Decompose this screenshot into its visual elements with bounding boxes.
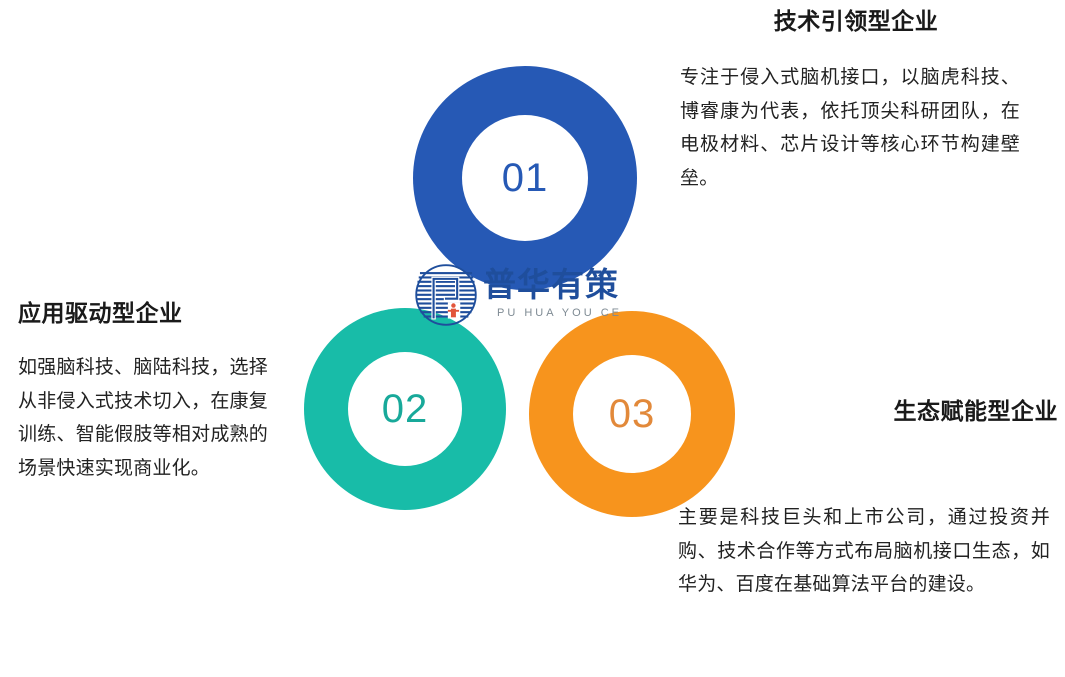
text-block-02: 应用驱动型企业 如强脑科技、脑陆科技，选择从非侵入式技术切入，在康复训练、智能假… [18,300,280,486]
infographic-canvas: 01 02 03 [0,0,1065,677]
ring-node-02-number: 02 [382,389,429,429]
text-block-02-title: 应用驱动型企业 [18,300,280,329]
text-block-03-body: 主要是科技巨头和上市公司，通过投资并购、技术合作等方式布局脑机接口生态，如华为、… [678,501,1050,602]
ring-node-01[interactable]: 01 [413,66,637,290]
text-block-01-body: 专注于侵入式脑机接口，以脑虎科技、博睿康为代表，依托顶尖科研团队，在电极材料、芯… [680,61,1020,196]
ring-node-03-hole: 03 [573,355,691,473]
text-block-03-title: 生态赋能型企业 [678,398,1058,427]
ring-node-01-number: 01 [502,158,549,198]
text-block-02-body: 如强脑科技、脑陆科技，选择从非侵入式技术切入，在康复训练、智能假肢等相对成熟的场… [18,351,268,486]
ring-node-02-hole: 02 [348,352,462,466]
text-block-01-title: 技术引领型企业 [680,8,1032,37]
ring-node-03-number: 03 [609,394,656,434]
ring-node-03[interactable]: 03 [529,311,735,517]
text-block-03: 生态赋能型企业 主要是科技巨头和上市公司，通过投资并购、技术合作等方式布局脑机接… [678,398,1058,602]
ring-node-02[interactable]: 02 [304,308,506,510]
text-block-01: 技术引领型企业 专注于侵入式脑机接口，以脑虎科技、博睿康为代表，依托顶尖科研团队… [680,8,1032,196]
ring-node-01-hole: 01 [462,115,588,241]
